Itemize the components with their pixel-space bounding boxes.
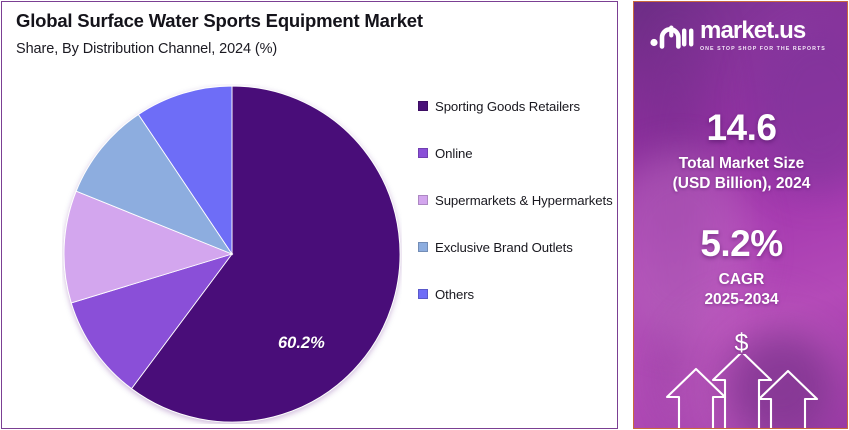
pie-chart: 60.2% [62, 84, 402, 424]
cagr-value: 5.2% [634, 223, 848, 265]
legend-item-label: Sporting Goods Retailers [435, 98, 580, 116]
legend-swatch-icon [418, 101, 428, 111]
legend-item[interactable]: Sporting Goods Retailers [418, 98, 614, 116]
brand-tagline: ONE STOP SHOP FOR THE REPORTS [700, 46, 826, 52]
pie-slice-group [64, 86, 400, 422]
infographic-root: Global Surface Water Sports Equipment Ma… [0, 0, 849, 430]
growth-arrows-icon [634, 354, 848, 429]
chart-panel: Global Surface Water Sports Equipment Ma… [1, 1, 618, 429]
legend-swatch-icon [418, 195, 428, 205]
chart-legend: Sporting Goods RetailersOnlineSupermarke… [418, 98, 614, 333]
legend-item[interactable]: Supermarkets & Hypermarkets [418, 192, 614, 210]
pie-chart-svg [62, 84, 402, 424]
legend-swatch-icon [418, 289, 428, 299]
market-size-caption-line2: (USD Billion), 2024 [634, 174, 848, 194]
brand-name: market.us [700, 19, 826, 43]
legend-item-label: Supermarkets & Hypermarkets [435, 192, 613, 210]
legend-item-label: Exclusive Brand Outlets [435, 239, 573, 257]
cagr-caption-line1: CAGR [634, 270, 848, 290]
legend-item[interactable]: Others [418, 286, 614, 304]
market-size-value: 14.6 [634, 107, 848, 149]
pie-data-label: 60.2% [278, 334, 325, 353]
brand-logo-text: market.us ONE STOP SHOP FOR THE REPORTS [700, 19, 826, 52]
cagr-caption-line2: 2025-2034 [634, 290, 848, 310]
legend-swatch-icon [418, 242, 428, 252]
legend-item[interactable]: Online [418, 145, 614, 163]
market-size-caption: Total Market Size (USD Billion), 2024 [634, 154, 848, 194]
cagr-caption: CAGR 2025-2034 [634, 270, 848, 310]
page-title: Global Surface Water Sports Equipment Ma… [16, 10, 606, 32]
legend-item[interactable]: Exclusive Brand Outlets [418, 239, 614, 257]
title-block: Global Surface Water Sports Equipment Ma… [16, 10, 606, 57]
market-us-logo-icon [650, 21, 694, 51]
page-subtitle: Share, By Distribution Channel, 2024 (%) [16, 41, 606, 57]
brand-panel: market.us ONE STOP SHOP FOR THE REPORTS … [633, 1, 848, 429]
legend-swatch-icon [418, 148, 428, 158]
legend-item-label: Online [435, 145, 473, 163]
brand-logo[interactable]: market.us ONE STOP SHOP FOR THE REPORTS [650, 19, 834, 52]
legend-item-label: Others [435, 286, 474, 304]
market-size-caption-line1: Total Market Size [634, 154, 848, 174]
